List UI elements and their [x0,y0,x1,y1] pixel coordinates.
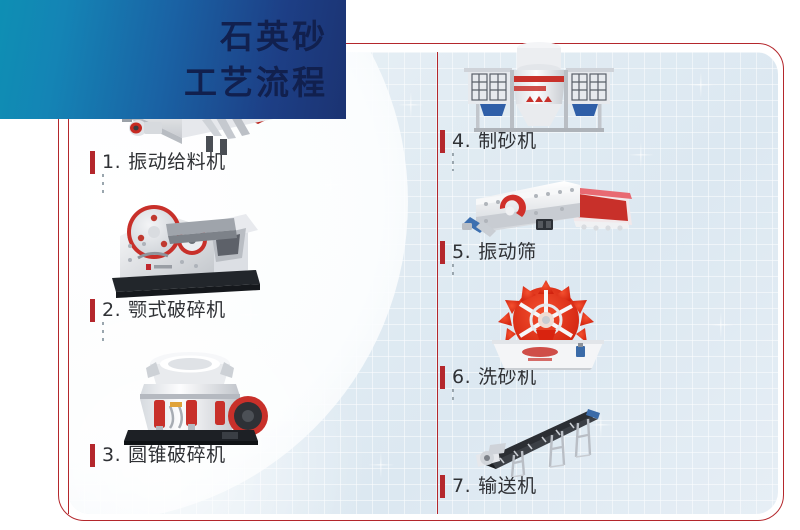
right-flow-column: 4. 制砂机 [440,34,720,498]
red-bar-marker [440,366,445,389]
flow-step-1-name: 振动给料机 [128,153,226,172]
flow-step-7-label: 7. 输送机 [440,475,720,498]
connector-dots [452,153,454,171]
jaw-crusher-icon [108,196,380,301]
flow-step-6[interactable]: 6. 洗砂机 [440,280,720,389]
flow-step-2-name: 颚式破碎机 [128,301,226,320]
flow-step-7-name: 输送机 [478,477,537,496]
sand-washer-icon [484,280,720,370]
flow-step-3-index: 3. [102,446,121,465]
flow-step-3[interactable]: 3. 圆锥破碎机 [90,344,380,467]
flow-step-6-name: 洗砂机 [478,368,537,387]
connector-dots [452,264,454,280]
connector-dots [452,389,454,405]
red-bar-marker [440,130,445,153]
flow-step-4-name: 制砂机 [478,132,537,151]
sand-maker-icon [454,34,720,134]
red-bar-marker [440,241,445,264]
red-bar-marker [90,444,95,467]
title-line-1: 石英砂 [220,14,328,60]
connector-dots [102,322,104,344]
title-banner: 石英砂 工艺流程 [0,0,346,119]
cone-crusher-icon [112,344,380,446]
flow-step-3-label: 3. 圆锥破碎机 [90,444,380,467]
flow-step-7-index: 7. [452,477,471,496]
red-bar-marker [90,299,95,322]
flow-step-5-label: 5. 振动筛 [440,241,720,264]
flow-step-3-name: 圆锥破碎机 [128,446,226,465]
flow-step-5[interactable]: 5. 振动筛 [440,171,720,264]
title-line-2: 工艺流程 [184,60,328,106]
flow-step-5-index: 5. [452,243,471,262]
connector-dots [102,174,104,196]
flow-step-2-label: 2. 颚式破碎机 [90,299,380,322]
left-flow-column: 1. 振动给料机 [90,60,380,467]
flow-step-2-index: 2. [102,301,121,320]
flow-step-7[interactable]: 7. 输送机 [440,405,720,498]
flow-step-5-name: 振动筛 [478,243,537,262]
red-bar-marker [90,151,95,174]
left-column-rail [68,52,69,514]
flow-step-6-index: 6. [452,368,471,387]
flow-step-4-index: 4. [452,132,471,151]
right-column-rail [437,52,438,514]
red-bar-marker [440,475,445,498]
flow-step-4[interactable]: 4. 制砂机 [440,34,720,153]
belt-conveyor-icon [470,405,720,477]
flow-step-1-index: 1. [102,153,121,172]
flow-step-2[interactable]: 2. 颚式破碎机 [90,196,380,322]
vibrating-screen-icon [452,171,720,243]
infographic-canvas: 1. 振动给料机 [0,0,800,530]
